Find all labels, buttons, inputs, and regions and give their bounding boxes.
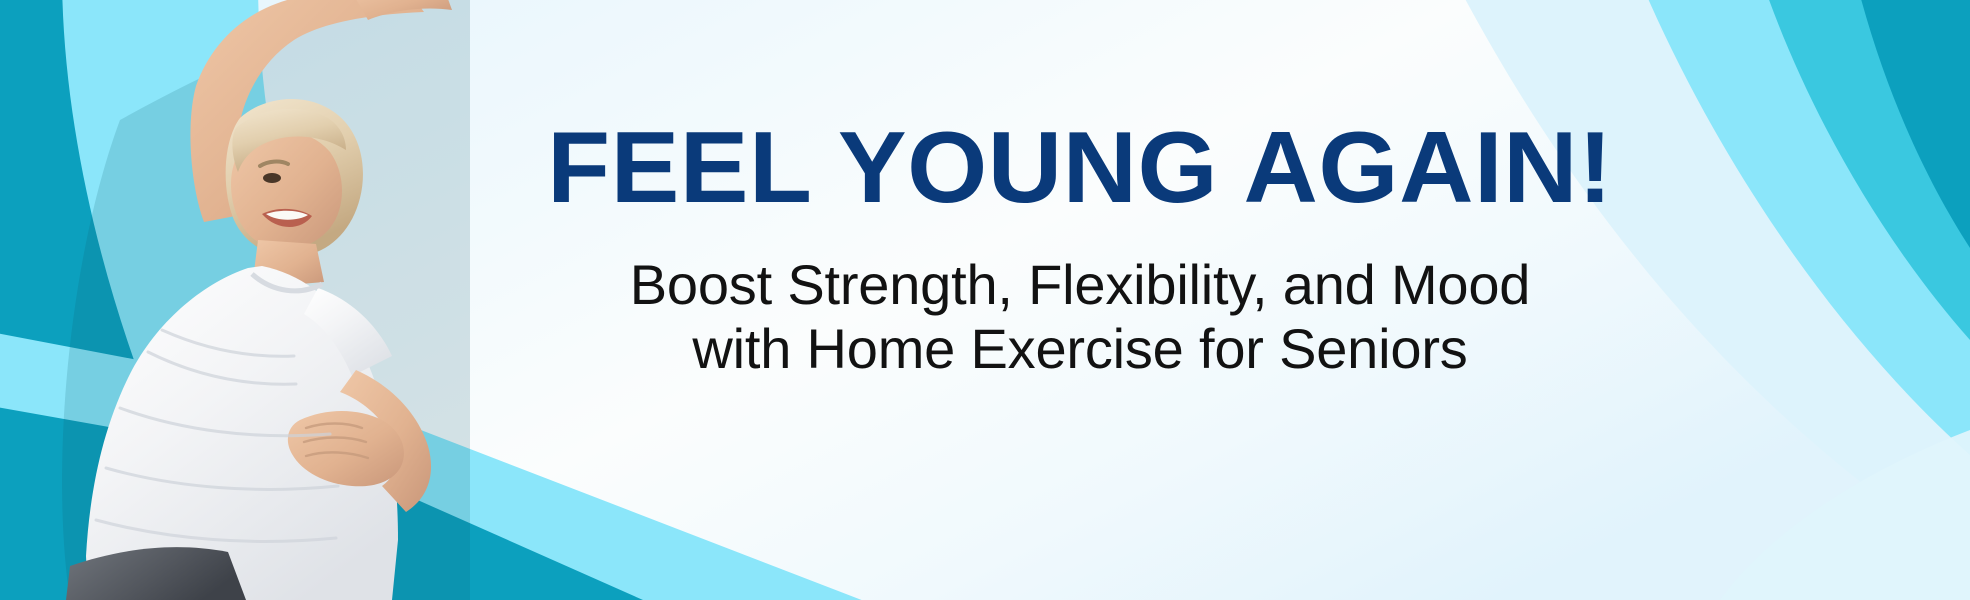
promo-banner: FEEL YOUNG AGAIN! Boost Strength, Flexib… — [0, 0, 1970, 600]
page-title: FEEL YOUNG AGAIN! — [366, 118, 1794, 219]
subtitle-line-2: with Home Exercise for Seniors — [380, 317, 1780, 381]
banner-copy: FEEL YOUNG AGAIN! Boost Strength, Flexib… — [380, 118, 1780, 381]
subtitle-line-1: Boost Strength, Flexibility, and Mood — [380, 253, 1780, 317]
banner-subtitle: Boost Strength, Flexibility, and Mood wi… — [380, 253, 1780, 381]
